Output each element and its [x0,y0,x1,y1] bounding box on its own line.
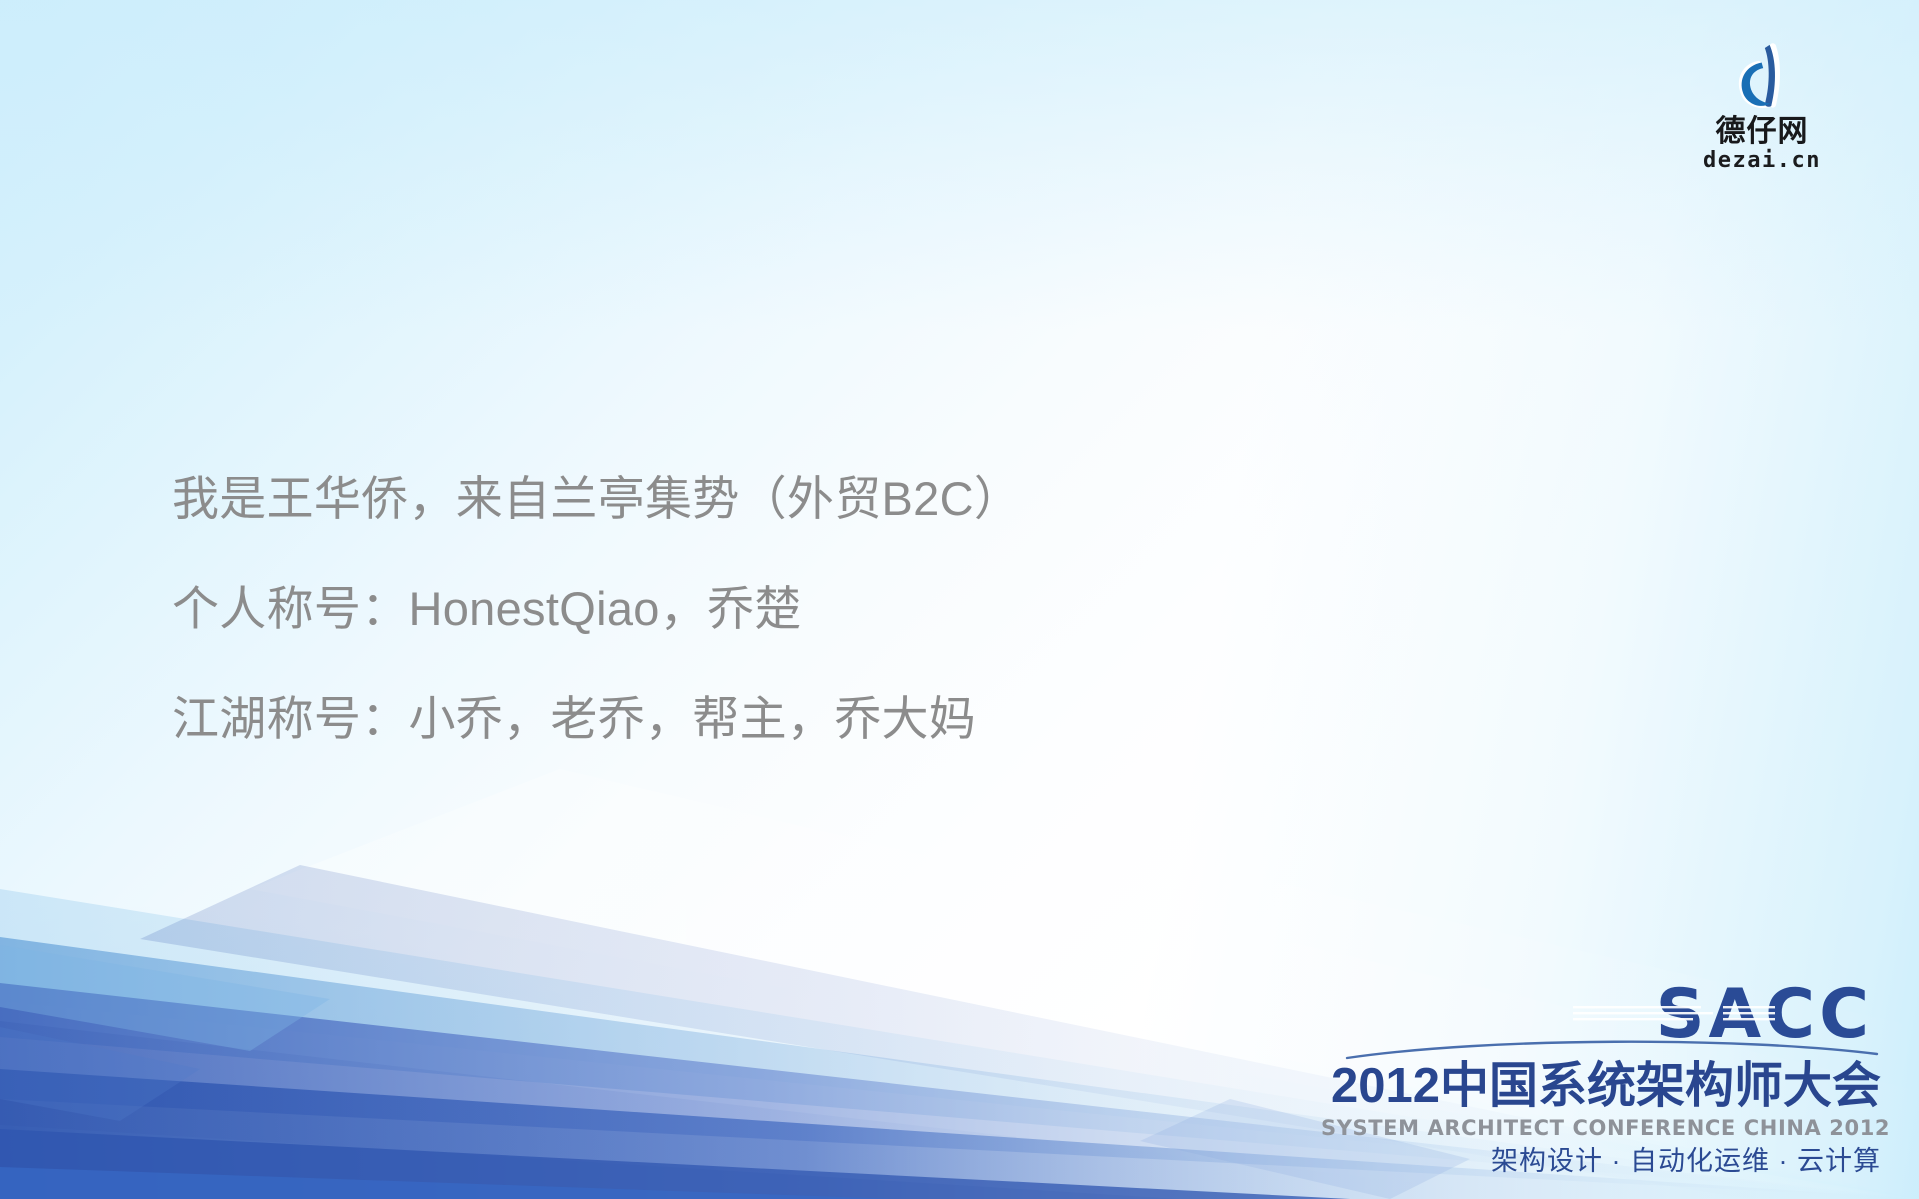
sacc-title-en: SYSTEM ARCHITECT CONFERENCE CHINA 2012 [1321,1113,1881,1143]
slide-background-bottom-wash [0,769,1150,1199]
sacc-title-cn: 2012中国系统架构师大会 [1321,1061,1881,1113]
body-line-3: 江湖称号：小乔，老乔，帮主，乔大妈 [172,664,1472,774]
sacc-speed-stripes-icon [1573,1003,1873,1025]
dezai-logo: 德仔网 dezai.cn [1677,40,1847,173]
body-line-1: 我是王华侨，来自兰亭集势（外贸B2C） [172,444,1472,554]
dezai-url: dezai.cn [1677,148,1847,173]
sacc-swoosh-arc-icon [1341,1035,1881,1061]
dezai-d-mark-icon [1723,40,1800,114]
sacc-tagline: 架构设计 · 自动化运维 · 云计算 [1321,1143,1881,1181]
body-line-2: 个人称号：HonestQiao，乔楚 [172,554,1472,664]
presentation-slide: 我是王华侨，来自兰亭集势（外贸B2C） 个人称号：HonestQiao，乔楚 江… [0,0,1919,1199]
dezai-name-cn: 德仔网 [1677,116,1847,148]
slide-body-text: 我是王华侨，来自兰亭集势（外贸B2C） 个人称号：HonestQiao，乔楚 江… [172,444,1472,774]
slide-background-top-wash [0,0,1919,330]
sacc-wordmark-block: SACC [1321,981,1881,1059]
sacc-conference-logo: SACC 2012中国系统架构师大会 SYSTEM ARCHITECT CONF… [1321,981,1881,1181]
